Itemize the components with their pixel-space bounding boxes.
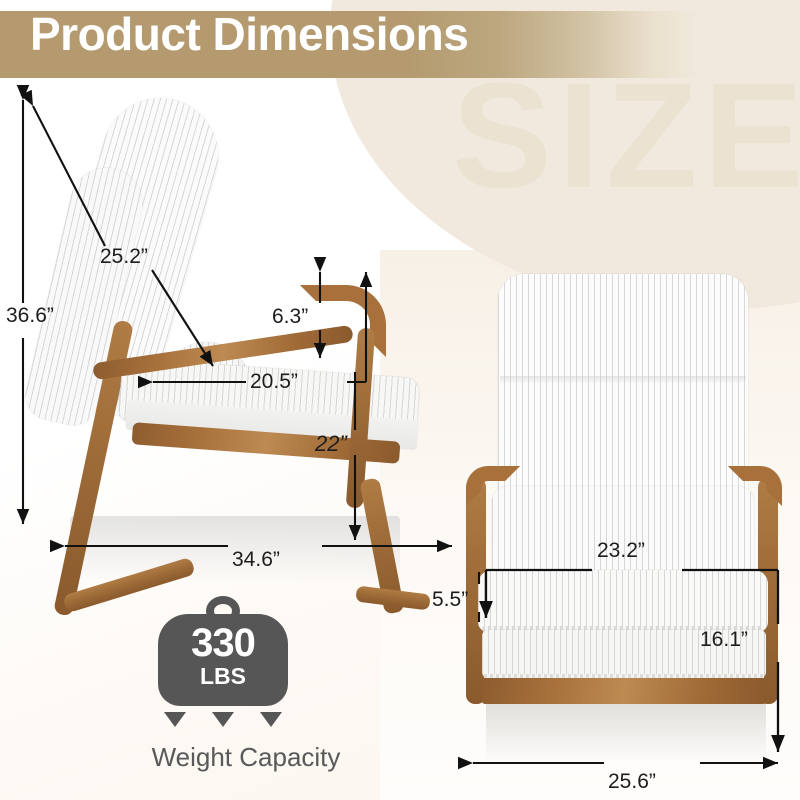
front-left-armrest — [466, 466, 520, 506]
front-right-armrest — [728, 466, 782, 506]
weight-capacity-caption: Weight Capacity — [98, 742, 394, 773]
infographic-canvas: SIZE Product Dimensions — [0, 0, 800, 800]
dimension-label-seat-height: 22” — [315, 431, 347, 457]
dimension-label-seat-depth: 20.5” — [250, 370, 298, 394]
dimension-label-overall-depth: 34.6” — [232, 548, 280, 572]
dimension-label-overall-width: 25.6” — [608, 770, 656, 794]
down-triangle-icon — [164, 712, 186, 727]
dimension-label-overall-height: 36.6” — [6, 304, 54, 328]
weight-capacity-badge: 330 LBS Weight Capacity — [140, 596, 350, 786]
chair-side-view-illustration — [0, 80, 470, 550]
page-title: Product Dimensions — [30, 12, 468, 56]
corduroy-texture — [478, 570, 768, 632]
down-triangle-icon — [260, 712, 282, 727]
front-seat-apron-rail — [482, 678, 766, 704]
chair-front-view-illustration — [440, 270, 800, 770]
front-view-floor-shadow — [486, 704, 766, 762]
dimension-label-backrest-height: 25.2” — [100, 245, 148, 269]
size-watermark-text: SIZE — [452, 60, 800, 210]
dimension-label-seat-width: 23.2” — [597, 539, 645, 563]
weight-direction-arrows — [164, 712, 282, 727]
dimension-label-cushion-thickness: 5.5” — [432, 588, 468, 612]
down-triangle-icon — [212, 712, 234, 727]
weight-capacity-amount: 330 — [158, 622, 288, 664]
front-backrest-seam — [500, 376, 746, 384]
dimension-label-armrest-height: 6.3” — [272, 305, 308, 329]
weight-capacity-unit: LBS — [158, 664, 288, 688]
front-seat-cushion-upper — [478, 570, 768, 632]
dimension-label-seat-height-front: 16.1” — [700, 628, 748, 652]
